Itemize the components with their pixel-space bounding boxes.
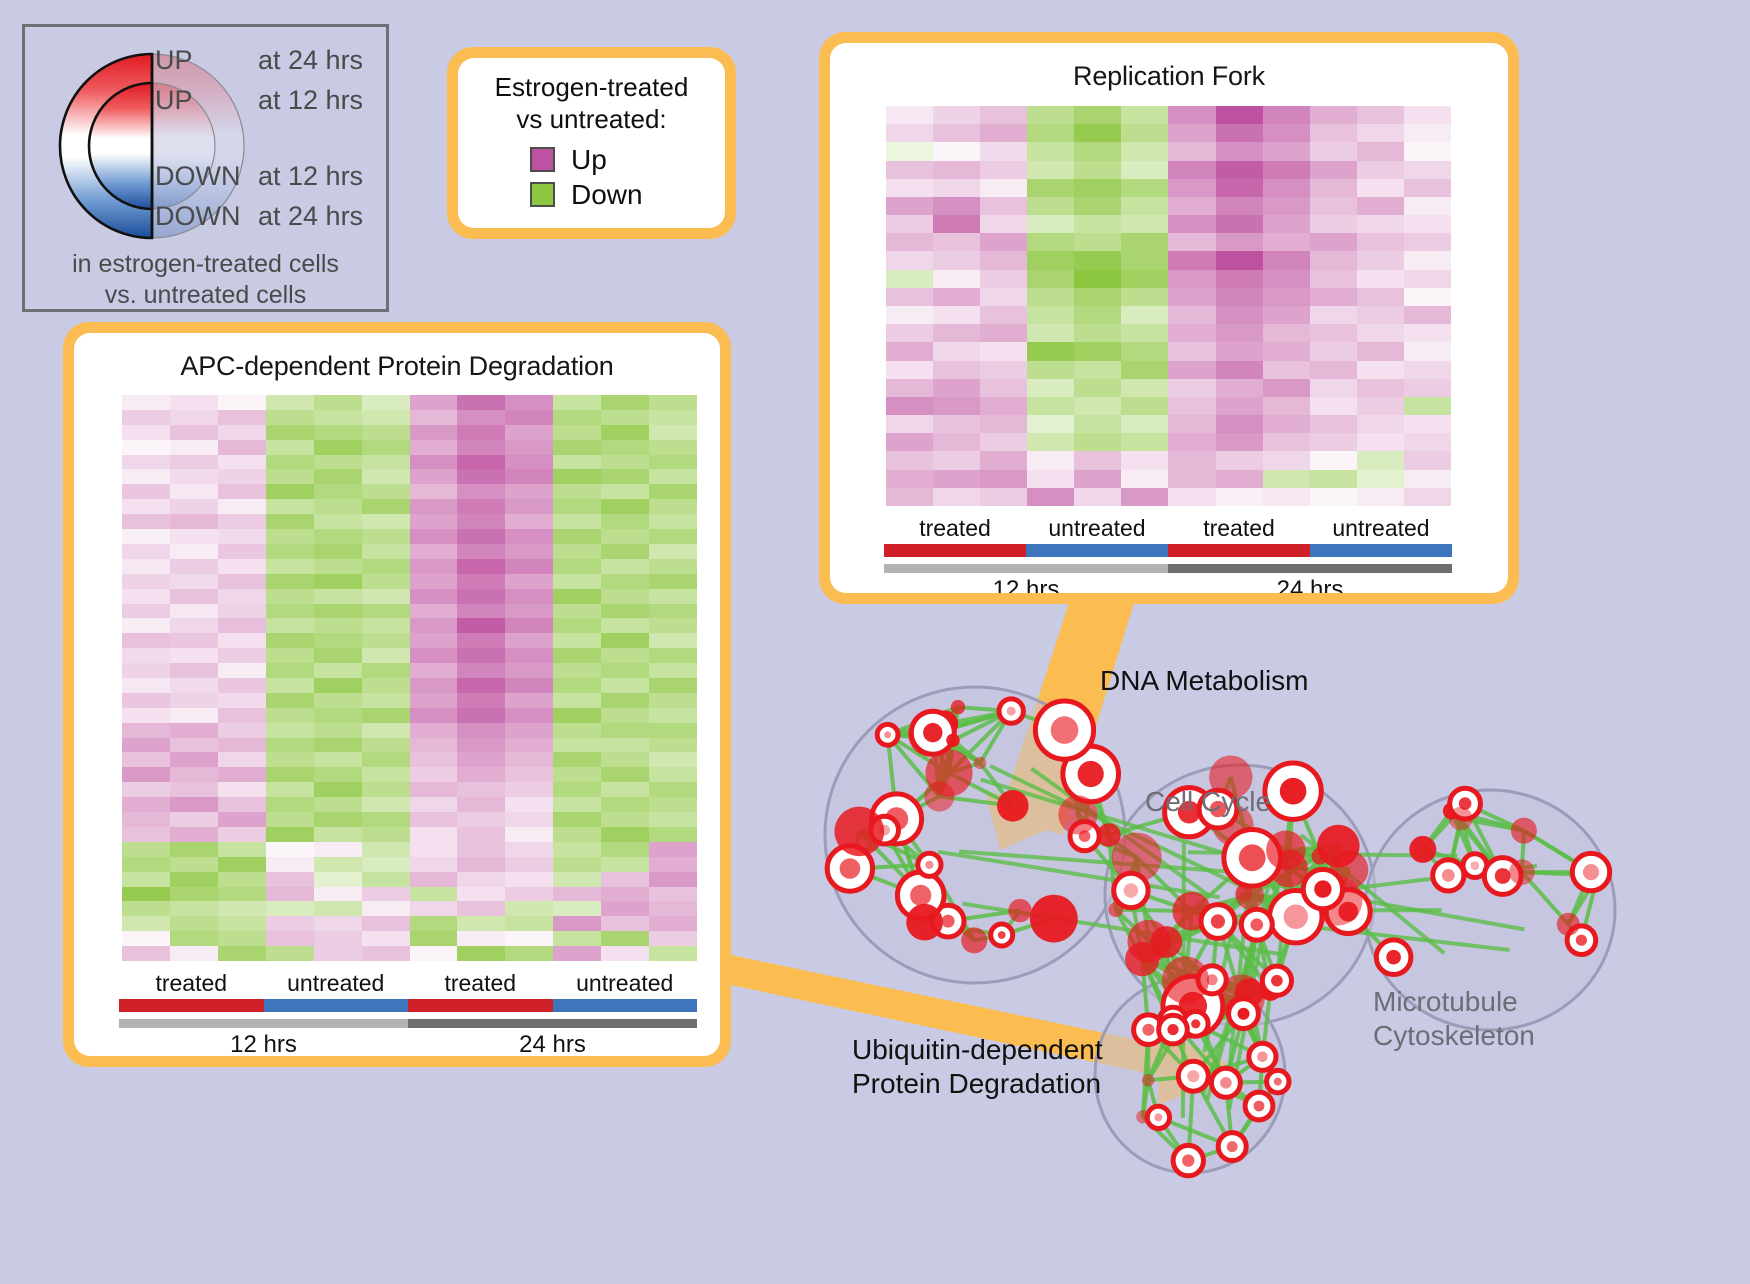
network-node-core[interactable] (942, 915, 955, 928)
network-node[interactable] (835, 807, 885, 857)
network-node-core[interactable] (1220, 1077, 1232, 1089)
network-node-core[interactable] (840, 858, 861, 879)
network-node-core[interactable] (1495, 868, 1511, 884)
network-node[interactable] (1162, 957, 1209, 1004)
network-node-core[interactable] (1142, 1024, 1154, 1036)
network-node-core[interactable] (1051, 716, 1079, 744)
network-node[interactable] (997, 790, 1029, 822)
network-node-core[interactable] (1227, 1141, 1238, 1152)
network-node[interactable] (974, 757, 986, 769)
network-node-core[interactable] (925, 861, 933, 869)
network-node[interactable] (1509, 859, 1535, 885)
network-node[interactable] (1409, 836, 1436, 863)
network-node[interactable] (1266, 831, 1305, 870)
network-node-core[interactable] (1238, 1008, 1250, 1020)
network-node-core[interactable] (998, 931, 1006, 939)
network-node[interactable] (1449, 807, 1473, 831)
network-node-core[interactable] (1007, 707, 1016, 716)
pathway-network-graph: DNA Metabolism Cell Cycle Microtubule Cy… (790, 620, 1750, 1279)
network-node[interactable] (1108, 902, 1123, 917)
network-node-core[interactable] (1576, 935, 1587, 946)
network-node-core[interactable] (1274, 1078, 1282, 1086)
network-node-core[interactable] (884, 731, 891, 738)
network-node-core[interactable] (1471, 861, 1480, 870)
network-node-core[interactable] (1191, 1019, 1200, 1028)
cluster-label-ubiquitin-degradation: Ubiquitin-dependent Protein Degradation (852, 1033, 1103, 1100)
network-node[interactable] (951, 700, 965, 714)
network-node[interactable] (1030, 895, 1078, 943)
network-node[interactable] (1058, 795, 1097, 834)
network-node-core[interactable] (1583, 864, 1599, 880)
network-node-core[interactable] (1167, 1024, 1178, 1035)
network-node-core[interactable] (1251, 918, 1264, 931)
cluster-label-dna-metabolism: DNA Metabolism (1100, 664, 1309, 698)
network-node-core[interactable] (1154, 1113, 1162, 1121)
network-node-core[interactable] (1239, 844, 1266, 871)
network-node-core[interactable] (1254, 1101, 1265, 1112)
network-node-core[interactable] (1078, 761, 1104, 787)
network-node[interactable] (1008, 899, 1031, 922)
network-svg (790, 620, 1750, 1279)
network-node[interactable] (1150, 926, 1182, 958)
figure-canvas: UP at 24 hrs UP at 12 hrs DOWN at 12 hrs… (0, 0, 1750, 1279)
cluster-label-cell-cycle: Cell Cycle (1145, 785, 1271, 819)
network-node-core[interactable] (910, 885, 931, 906)
network-node[interactable] (1557, 913, 1580, 936)
network-node[interactable] (1235, 884, 1252, 901)
network-node[interactable] (946, 734, 959, 747)
network-node-core[interactable] (1442, 869, 1455, 882)
network-node[interactable] (1142, 1074, 1155, 1087)
network-node-core[interactable] (1271, 975, 1283, 987)
network-node[interactable] (1511, 818, 1537, 844)
network-node-core[interactable] (1211, 914, 1225, 928)
network-node[interactable] (906, 904, 943, 941)
cluster-label-microtubule-cytoskeleton: Microtubule Cytoskeleton (1373, 985, 1535, 1052)
network-node-core[interactable] (1314, 880, 1331, 897)
network-node-core[interactable] (1284, 905, 1308, 929)
network-node-core[interactable] (923, 723, 942, 742)
network-node-core[interactable] (1280, 778, 1307, 805)
network-node-core[interactable] (1257, 1052, 1268, 1063)
network-node[interactable] (961, 927, 987, 953)
network-node-core[interactable] (1182, 1154, 1194, 1166)
network-node-core[interactable] (1386, 950, 1401, 965)
network-node-core[interactable] (1124, 883, 1139, 898)
network-node[interactable] (925, 749, 972, 796)
network-node-core[interactable] (1187, 1070, 1199, 1082)
